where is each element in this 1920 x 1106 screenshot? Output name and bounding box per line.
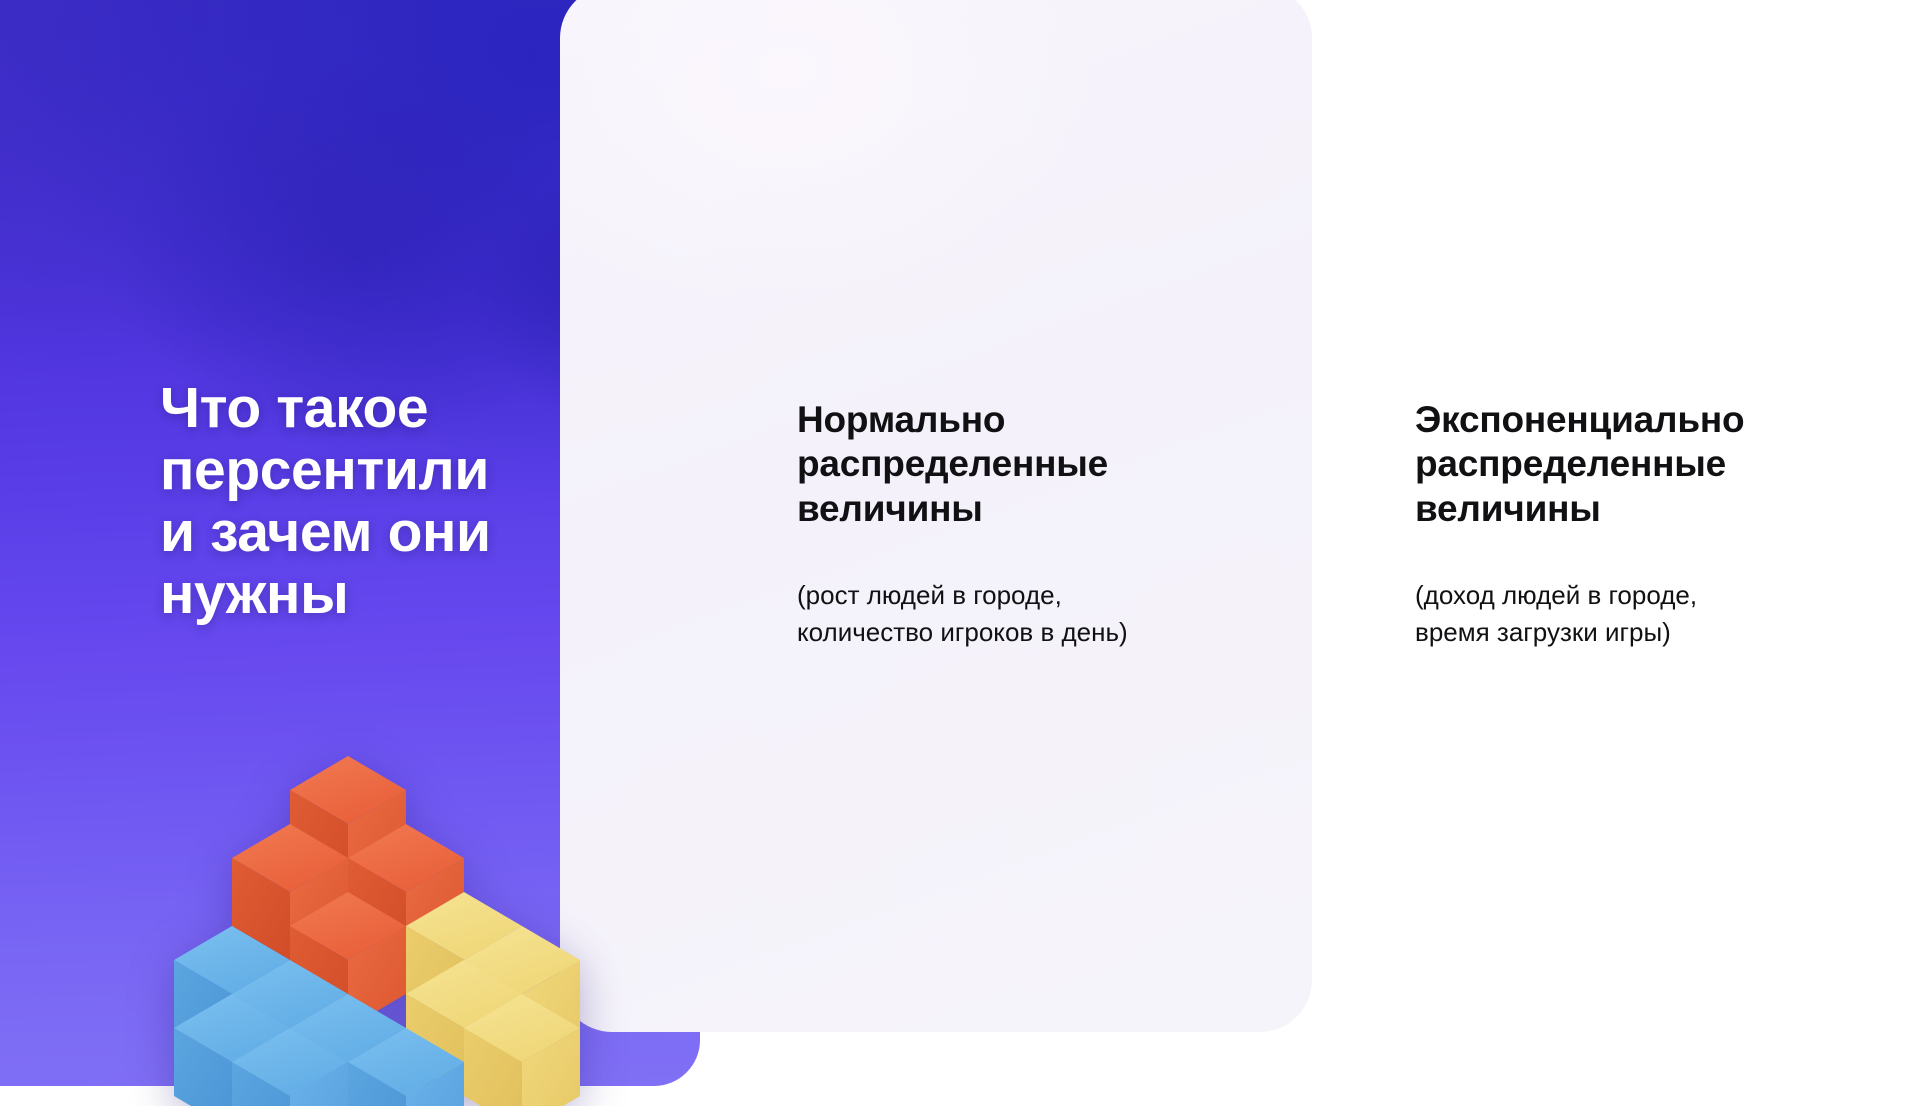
- column-normal-note: (рост людей в городе, количество игроков…: [797, 531, 1237, 651]
- column-exponential: Экспоненциально распределенные величины …: [1415, 398, 1865, 651]
- page-title: Что такое персентили и зачем они нужны: [160, 378, 590, 625]
- slide-root: Что такое персентили и зачем они нужны: [0, 0, 1920, 1076]
- column-exponential-heading: Экспоненциально распределенные величины: [1415, 398, 1865, 531]
- isometric-cubes-icon: [150, 746, 610, 1106]
- column-normal: Нормально распределенные величины (рост …: [797, 398, 1237, 651]
- column-normal-heading: Нормально распределенные величины: [797, 398, 1237, 531]
- column-exponential-note: (доход людей в городе, время загрузки иг…: [1415, 531, 1865, 651]
